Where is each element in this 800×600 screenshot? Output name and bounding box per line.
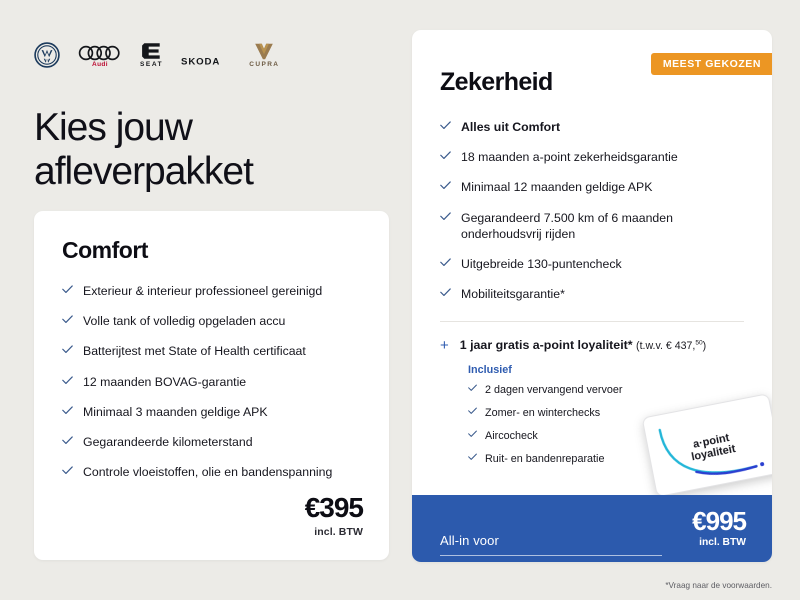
all-in-label: All-in voor	[440, 533, 499, 548]
inclusief-list: 2 dagen vervangend vervoer Zomer- en win…	[468, 383, 746, 466]
list-item: Exterieur & interieur professioneel gere…	[62, 283, 363, 299]
list-item: Gegarandeerd 7.500 km of 6 maanden onder…	[440, 210, 746, 242]
divider	[440, 321, 744, 322]
list-item: Volle tank of volledig opgeladen accu	[62, 313, 363, 329]
delivery-package-selector: Audi SEAT SKODA CUPRA Ki	[0, 0, 800, 600]
check-icon	[440, 288, 451, 297]
svg-text:SKODA: SKODA	[181, 57, 220, 68]
audi-logo: Audi	[78, 45, 122, 69]
check-icon	[440, 121, 451, 130]
list-item-label: Alles uit Comfort	[461, 119, 560, 135]
loyalty-label: 1 jaar gratis a-point loyaliteit*	[460, 338, 633, 352]
check-icon	[62, 376, 73, 385]
list-item-label: 2 dagen vervangend vervoer	[485, 383, 622, 397]
check-icon	[440, 212, 451, 221]
list-item: Uitgebreide 130-puntencheck	[440, 256, 746, 272]
list-item-label: Uitgebreide 130-puntencheck	[461, 256, 622, 272]
check-icon	[468, 384, 477, 392]
zekerheid-body: Zekerheid Alles uit Comfort 18 maanden a…	[412, 30, 772, 466]
loyalty-offer-row: + 1 jaar gratis a-point loyaliteit* (t.w…	[440, 338, 746, 354]
all-in-price-note: incl. BTW	[692, 537, 746, 548]
list-item: Ruit- en bandenreparatie	[468, 452, 746, 466]
status-badge: MEEST GEKOZEN	[651, 53, 772, 75]
cupra-wordmark: CUPRA	[249, 62, 279, 69]
list-item: Zomer- en winterchecks	[468, 406, 746, 420]
list-item: Mobiliteitsgarantie*	[440, 286, 746, 302]
skoda-logo: SKODA	[181, 55, 231, 68]
check-icon	[440, 258, 451, 267]
audi-wordmark: Audi	[92, 62, 108, 69]
list-item-label: Exterieur & interieur professioneel gere…	[83, 283, 322, 299]
brand-logo-row: Audi SEAT SKODA CUPRA	[34, 34, 402, 68]
list-item: Minimaal 3 maanden geldige APK	[62, 404, 363, 420]
loyalty-value: (t.w.v. € 437,50)	[636, 340, 706, 352]
list-item-label: Gegarandeerd 7.500 km of 6 maanden onder…	[461, 210, 746, 242]
check-icon	[62, 466, 73, 475]
seat-logo: SEAT	[140, 41, 163, 69]
list-item: 12 maanden BOVAG-garantie	[62, 374, 363, 390]
check-icon	[62, 345, 73, 354]
list-item-label: Volle tank of volledig opgeladen accu	[83, 313, 285, 329]
check-icon	[440, 181, 451, 190]
comfort-title: Comfort	[62, 237, 363, 264]
list-item: Batterijtest met State of Health certifi…	[62, 343, 363, 359]
all-in-price: €995	[692, 509, 746, 534]
inclusief-label: Inclusief	[468, 364, 746, 376]
list-item-label: Zomer- en winterchecks	[485, 406, 600, 420]
check-icon	[62, 315, 73, 324]
check-icon	[468, 407, 477, 415]
list-item-label: Gegarandeerde kilometerstand	[83, 434, 253, 450]
zekerheid-feature-list: Alles uit Comfort 18 maanden a-point zek…	[440, 119, 746, 303]
check-icon	[468, 430, 477, 438]
comfort-feature-list: Exterieur & interieur professioneel gere…	[62, 283, 363, 481]
footnote: *Vraag naar de voorwaarden.	[665, 581, 772, 590]
list-item-label: Ruit- en bandenreparatie	[485, 452, 604, 466]
list-item: Aircocheck	[468, 429, 746, 443]
list-item: Controle vloeistoffen, olie en bandenspa…	[62, 464, 363, 480]
list-item-label: Minimaal 12 maanden geldige APK	[461, 179, 652, 195]
list-item: Gegarandeerde kilometerstand	[62, 434, 363, 450]
volkswagen-logo	[34, 42, 60, 68]
comfort-price: €395	[305, 494, 363, 522]
plus-icon: +	[440, 338, 449, 354]
list-item: 2 dagen vervangend vervoer	[468, 383, 746, 397]
list-item-label: 18 maanden a-point zekerheidsgarantie	[461, 149, 678, 165]
check-icon	[62, 285, 73, 294]
seat-wordmark: SEAT	[140, 62, 163, 69]
page-title: Kies jouw afleverpakket	[34, 106, 402, 194]
comfort-price-block: €395 incl. BTW	[305, 494, 363, 538]
list-item: Alles uit Comfort	[440, 119, 746, 135]
comfort-price-note: incl. BTW	[305, 526, 363, 538]
list-item-label: Batterijtest met State of Health certifi…	[83, 343, 306, 359]
cupra-logo: CUPRA	[249, 42, 279, 69]
list-item-label: Aircocheck	[485, 429, 538, 443]
comfort-package-card[interactable]: Comfort Exterieur & interieur profession…	[34, 211, 389, 560]
check-icon	[440, 151, 451, 160]
zekerheid-package-card[interactable]: MEEST GEKOZEN Zekerheid Alles uit Comfor…	[412, 30, 772, 562]
divider	[440, 555, 662, 556]
list-item: Minimaal 12 maanden geldige APK	[440, 179, 746, 195]
check-icon	[62, 406, 73, 415]
list-item-label: Mobiliteitsgarantie*	[461, 286, 565, 302]
list-item-label: 12 maanden BOVAG-garantie	[83, 374, 246, 390]
check-icon	[62, 436, 73, 445]
list-item: 18 maanden a-point zekerheidsgarantie	[440, 149, 746, 165]
list-item-label: Minimaal 3 maanden geldige APK	[83, 404, 268, 420]
check-icon	[468, 453, 477, 461]
all-in-price-bar: All-in voor €995 incl. BTW	[412, 495, 772, 562]
list-item-label: Controle vloeistoffen, olie en bandenspa…	[83, 464, 332, 480]
